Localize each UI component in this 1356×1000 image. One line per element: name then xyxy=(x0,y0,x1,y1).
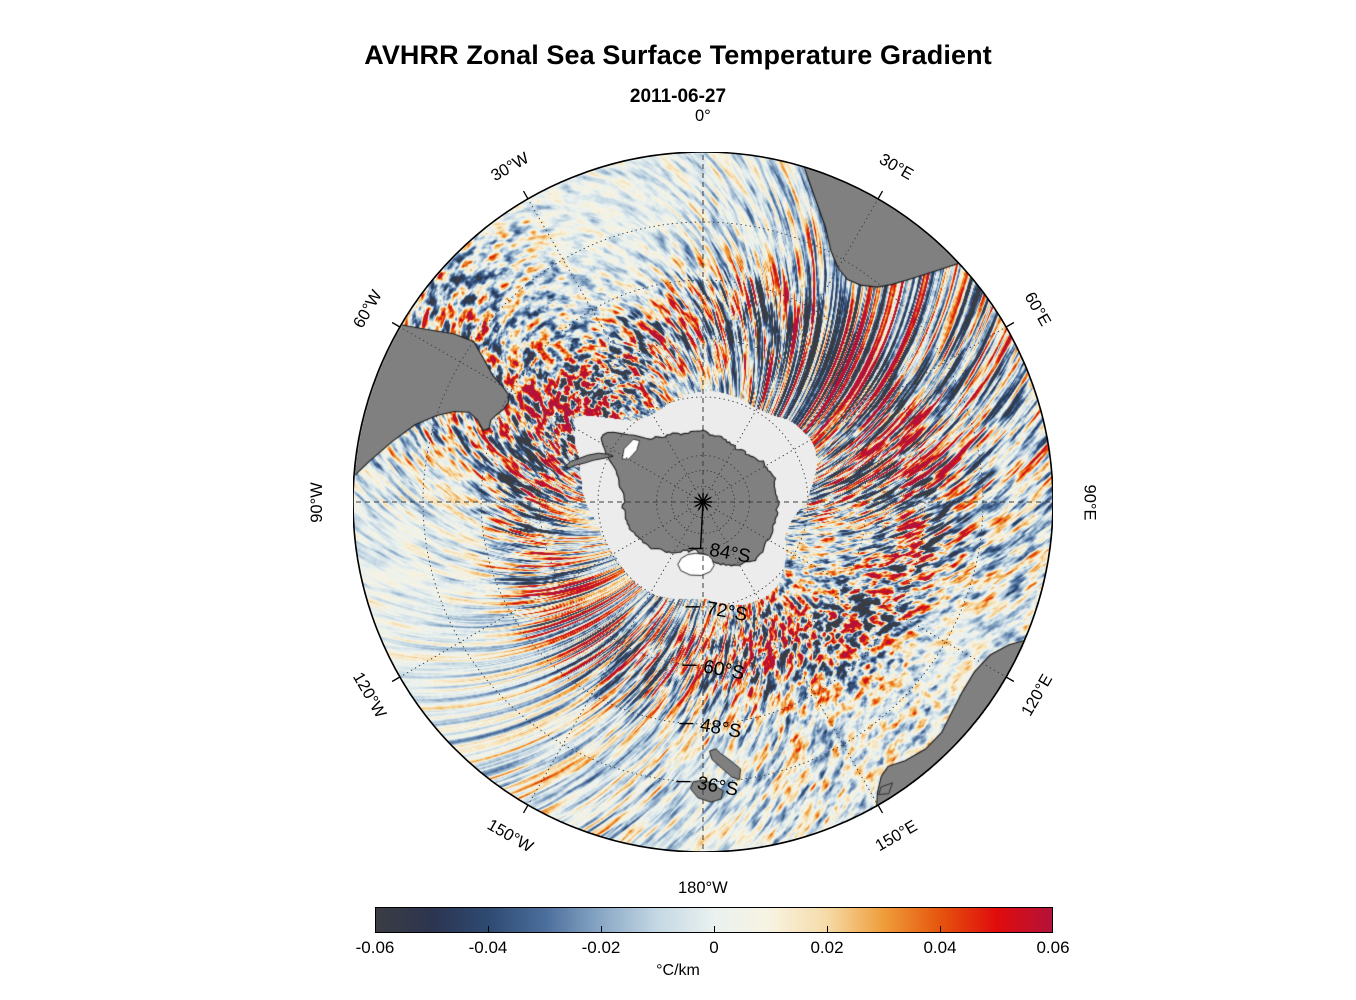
longitude-label: 180°W xyxy=(678,879,728,898)
colorbar-tick xyxy=(940,926,941,933)
longitude-tick xyxy=(878,805,883,813)
longitude-tick xyxy=(878,191,883,199)
longitude-gridline xyxy=(528,199,703,502)
longitude-tick xyxy=(1006,323,1014,328)
longitude-gridline xyxy=(400,327,703,502)
latitude-label: 48°S xyxy=(699,715,743,743)
latitude-label: 84°S xyxy=(708,540,752,568)
longitude-gridline xyxy=(528,502,703,805)
colorbar-tick-label: 0.04 xyxy=(885,938,995,958)
colorbar-tick xyxy=(714,926,715,933)
longitude-gridline xyxy=(400,502,703,677)
polar-map: 84°S72°S60°S48°S36°S xyxy=(353,152,1053,852)
longitude-label: 0° xyxy=(695,107,711,126)
colorbar-tick-label: 0.02 xyxy=(772,938,882,958)
map-overlay: 84°S72°S60°S48°S36°S xyxy=(353,152,1053,852)
colorbar-tick-label: -0.02 xyxy=(546,938,656,958)
colorbar-tick-label: 0 xyxy=(659,938,769,958)
longitude-label: 90°E xyxy=(1079,484,1098,520)
latitude-label: 72°S xyxy=(705,598,749,626)
longitude-gridline xyxy=(703,327,1006,502)
longitude-tick xyxy=(1006,677,1014,682)
longitude-gridline xyxy=(703,502,1006,677)
colorbar-tick-label: 0.06 xyxy=(998,938,1108,958)
longitude-label: 90°W xyxy=(307,482,326,523)
longitude-tick xyxy=(524,805,529,813)
colorbar-tick-label: -0.04 xyxy=(433,938,543,958)
figure-title: AVHRR Zonal Sea Surface Temperature Grad… xyxy=(0,40,1356,71)
colorbar-tick xyxy=(488,926,489,933)
longitude-tick xyxy=(524,191,529,199)
colorbar-tick xyxy=(827,926,828,933)
longitude-tick xyxy=(392,677,400,682)
colorbar xyxy=(375,907,1053,933)
longitude-gridline xyxy=(703,199,878,502)
latitude-label: 60°S xyxy=(702,656,746,684)
latitude-label: 36°S xyxy=(695,773,739,801)
longitude-tick xyxy=(392,323,400,328)
colorbar-tick-label: -0.06 xyxy=(320,938,430,958)
colorbar-tick xyxy=(601,926,602,933)
figure-subtitle: 2011-06-27 xyxy=(0,86,1356,108)
colorbar-unit-label: °C/km xyxy=(0,962,1356,980)
